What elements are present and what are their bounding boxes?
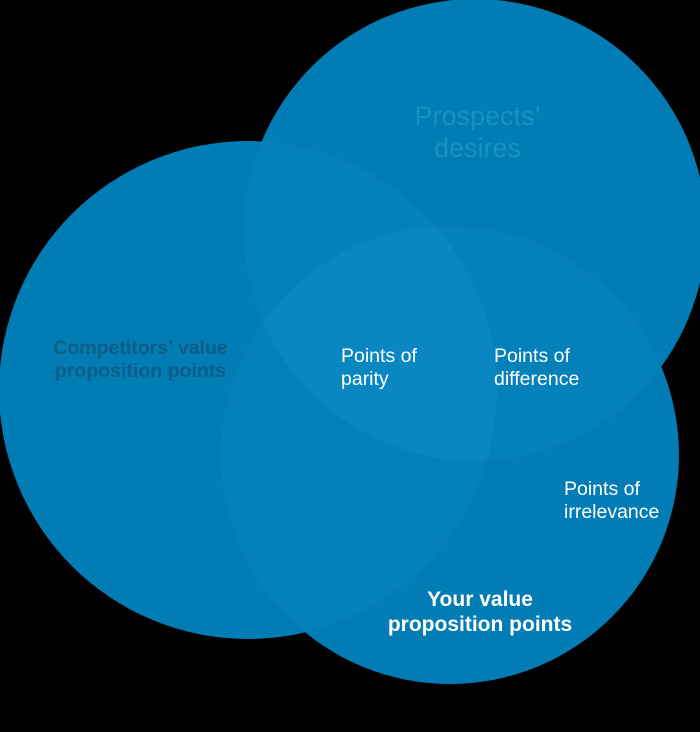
- venn-diagram: Prospects’ desires Competitors’ value pr…: [0, 0, 700, 732]
- venn-circles-canvas: [0, 0, 700, 732]
